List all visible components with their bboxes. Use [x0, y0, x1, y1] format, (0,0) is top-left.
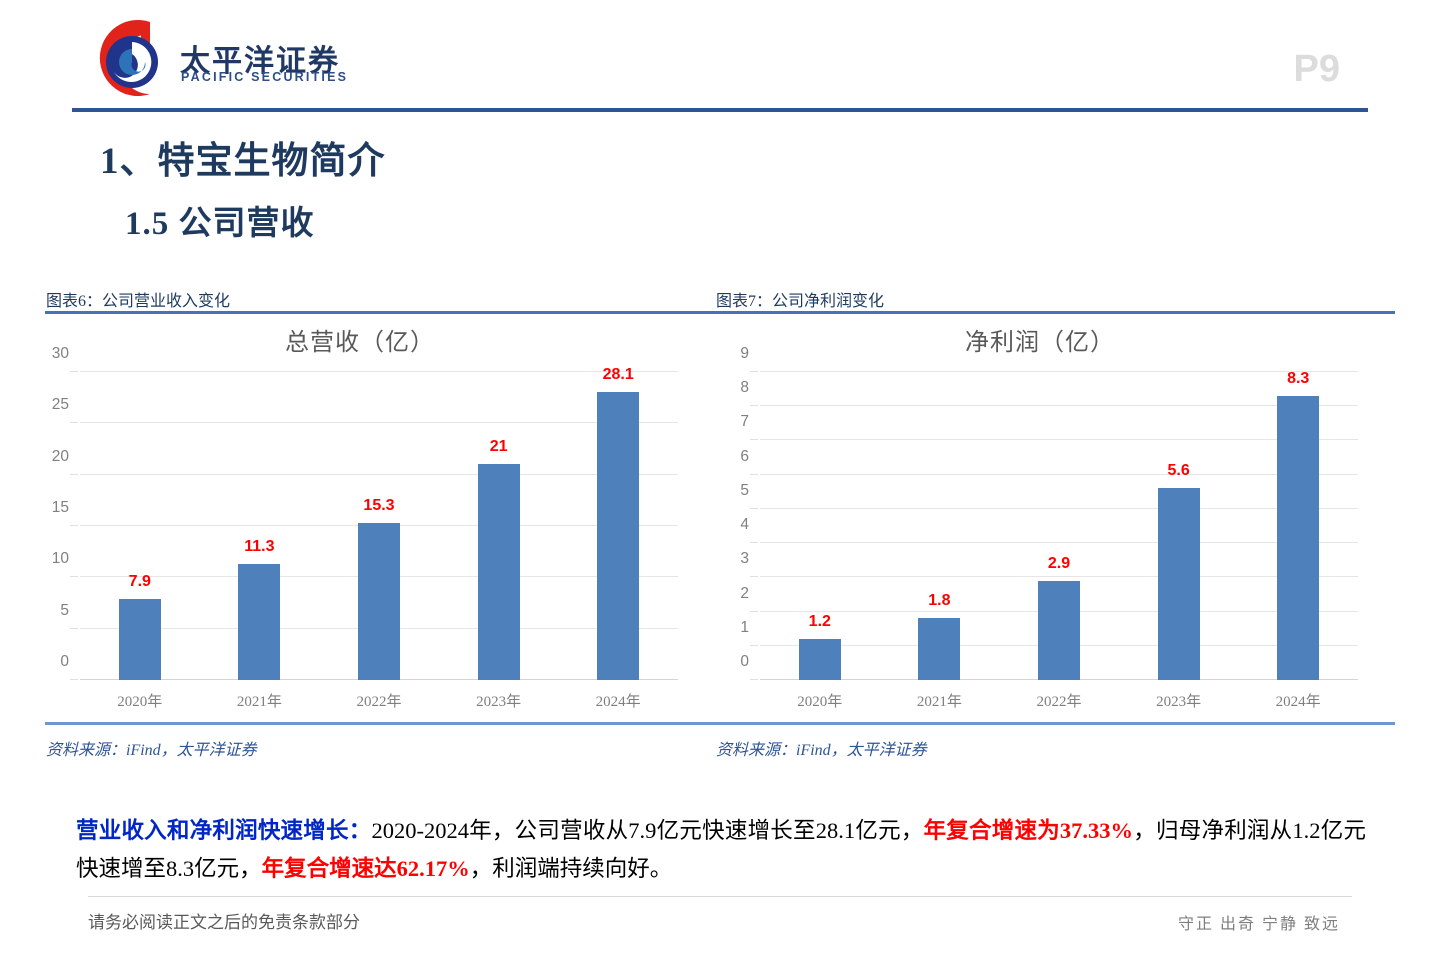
- summary-paragraph: 营业收入和净利润快速增长：2020-2024年，公司营收从7.9亿元快速增长至2…: [76, 812, 1366, 888]
- x-axis-tick-label: 2021年: [917, 690, 962, 711]
- bar-value-label: 28.1: [603, 366, 634, 384]
- summary-highlight-2: 年复合增速达62.17%: [262, 856, 470, 881]
- bar: [1277, 396, 1319, 680]
- y-axis-tick-mark: [70, 679, 78, 680]
- y-axis-tick-label: 10: [52, 550, 69, 568]
- bar-value-label: 2.9: [1048, 555, 1070, 573]
- x-axis-tick-label: 2022年: [1036, 690, 1081, 711]
- footer-divider: [88, 896, 1352, 897]
- figure-caption-right: 图表7：公司净利润变化: [716, 287, 884, 311]
- summary-part-1: 2020-2024年，公司营收从7.9亿元快速增长至28.1亿元，: [371, 818, 923, 843]
- y-axis-tick-label: 5: [740, 482, 749, 500]
- bar-value-label: 5.6: [1167, 462, 1189, 480]
- y-axis-tick-mark: [750, 679, 758, 680]
- pacific-securities-logo-icon: [88, 16, 174, 102]
- bar: [358, 523, 400, 680]
- y-axis-tick-label: 7: [740, 413, 749, 431]
- bar-group: 7.92020年: [80, 372, 200, 680]
- y-axis-tick-mark: [750, 576, 758, 577]
- y-axis-tick-mark: [750, 611, 758, 612]
- y-axis-tick-label: 9: [740, 345, 749, 363]
- summary-lead: 营业收入和净利润快速增长：: [76, 818, 371, 843]
- bar: [918, 618, 960, 680]
- y-axis-tick-label: 1: [740, 619, 749, 637]
- y-axis-tick-mark: [70, 576, 78, 577]
- y-axis-tick-label: 20: [52, 448, 69, 466]
- x-axis-tick-label: 2020年: [797, 690, 842, 711]
- bar-value-label: 1.8: [928, 592, 950, 610]
- summary-highlight-1: 年复合增速为37.33%: [924, 818, 1134, 843]
- y-axis-tick-label: 4: [740, 516, 749, 534]
- bar-group: 15.32022年: [319, 372, 439, 680]
- section-title: 1、特宝生物简介: [100, 130, 386, 184]
- bar: [597, 392, 639, 680]
- y-axis-tick-label: 5: [60, 602, 69, 620]
- x-axis-tick-label: 2023年: [1156, 690, 1201, 711]
- y-axis-tick-mark: [70, 422, 78, 423]
- y-axis-tick-mark: [750, 474, 758, 475]
- y-axis-tick-mark: [750, 439, 758, 440]
- y-axis-tick-label: 6: [740, 448, 749, 466]
- y-axis-tick-mark: [750, 405, 758, 406]
- y-axis-tick-mark: [70, 371, 78, 372]
- chart-plot-area: 0510152025307.92020年11.32021年15.32022年21…: [80, 372, 678, 680]
- bar-value-label: 21: [490, 438, 508, 456]
- chart-title: 总营收（亿）: [20, 322, 700, 357]
- bar-value-label: 1.2: [809, 613, 831, 631]
- x-axis-tick-label: 2024年: [1276, 690, 1321, 711]
- bar-group: 2.92022年: [999, 372, 1119, 680]
- y-axis-tick-label: 25: [52, 396, 69, 414]
- bar-value-label: 7.9: [129, 573, 151, 591]
- bar-value-label: 15.3: [363, 497, 394, 515]
- subsection-title: 1.5 公司营收: [125, 196, 315, 244]
- footer-slogan: 守正 出奇 宁静 致远: [1178, 910, 1340, 934]
- source-note-right: 资料来源：iFind，太平洋证券: [716, 736, 927, 760]
- bar-group: 1.82021年: [880, 372, 1000, 680]
- y-axis-tick-mark: [750, 371, 758, 372]
- y-axis-tick-label: 8: [740, 379, 749, 397]
- bar: [1158, 488, 1200, 680]
- bar-group: 5.62023年: [1119, 372, 1239, 680]
- summary-part-3: ，利润端持续向好。: [470, 856, 673, 881]
- header-divider: [72, 108, 1368, 112]
- y-axis-tick-mark: [70, 525, 78, 526]
- bar: [119, 599, 161, 680]
- bar-group: 212023年: [439, 372, 559, 680]
- bar-value-label: 8.3: [1287, 370, 1309, 388]
- y-axis-tick-mark: [70, 474, 78, 475]
- y-axis-tick-mark: [750, 645, 758, 646]
- bar: [478, 464, 520, 680]
- page-number: P9: [1294, 48, 1340, 91]
- x-axis-tick-label: 2024年: [596, 690, 641, 711]
- logo-text-english: PACIFIC SECURITIES: [181, 70, 348, 84]
- bar-group: 8.32024年: [1238, 372, 1358, 680]
- source-note-left: 资料来源：iFind，太平洋证券: [46, 736, 257, 760]
- bar: [799, 639, 841, 680]
- chart-canvas: 01234567891.22020年1.82021年2.92022年5.6202…: [760, 372, 1358, 680]
- chart-title: 净利润（亿）: [700, 322, 1380, 357]
- y-axis-tick-label: 0: [60, 653, 69, 671]
- x-axis-tick-label: 2021年: [237, 690, 282, 711]
- x-axis-tick-label: 2022年: [356, 690, 401, 711]
- bar-value-label: 11.3: [244, 538, 274, 556]
- y-axis-tick-label: 2: [740, 585, 749, 603]
- y-axis-tick-label: 30: [52, 345, 69, 363]
- footer-disclaimer: 请务必阅读正文之后的免责条款部分: [88, 908, 360, 933]
- bar-group: 11.32021年: [200, 372, 320, 680]
- charts-bottom-divider: [45, 722, 1395, 725]
- x-axis-tick-label: 2020年: [117, 690, 162, 711]
- bar-group: 1.22020年: [760, 372, 880, 680]
- y-axis-tick-label: 3: [740, 550, 749, 568]
- revenue-chart: 总营收（亿） 0510152025307.92020年11.32021年15.3…: [20, 314, 700, 720]
- bar-group: 28.12024年: [558, 372, 678, 680]
- x-axis-tick-label: 2023年: [476, 690, 521, 711]
- bar: [1038, 581, 1080, 680]
- y-axis-tick-mark: [70, 628, 78, 629]
- y-axis-tick-label: 0: [740, 653, 749, 671]
- bar: [238, 564, 280, 680]
- y-axis-tick-label: 15: [52, 499, 69, 517]
- figure-caption-left: 图表6：公司营业收入变化: [46, 287, 230, 311]
- chart-canvas: 0510152025307.92020年11.32021年15.32022年21…: [80, 372, 678, 680]
- y-axis-tick-mark: [750, 542, 758, 543]
- chart-plot-area: 01234567891.22020年1.82021年2.92022年5.6202…: [760, 372, 1358, 680]
- page-header: 太平洋证券 PACIFIC SECURITIES P9: [0, 0, 1440, 112]
- y-axis-tick-mark: [750, 508, 758, 509]
- net-profit-chart: 净利润（亿） 01234567891.22020年1.82021年2.92022…: [700, 314, 1380, 720]
